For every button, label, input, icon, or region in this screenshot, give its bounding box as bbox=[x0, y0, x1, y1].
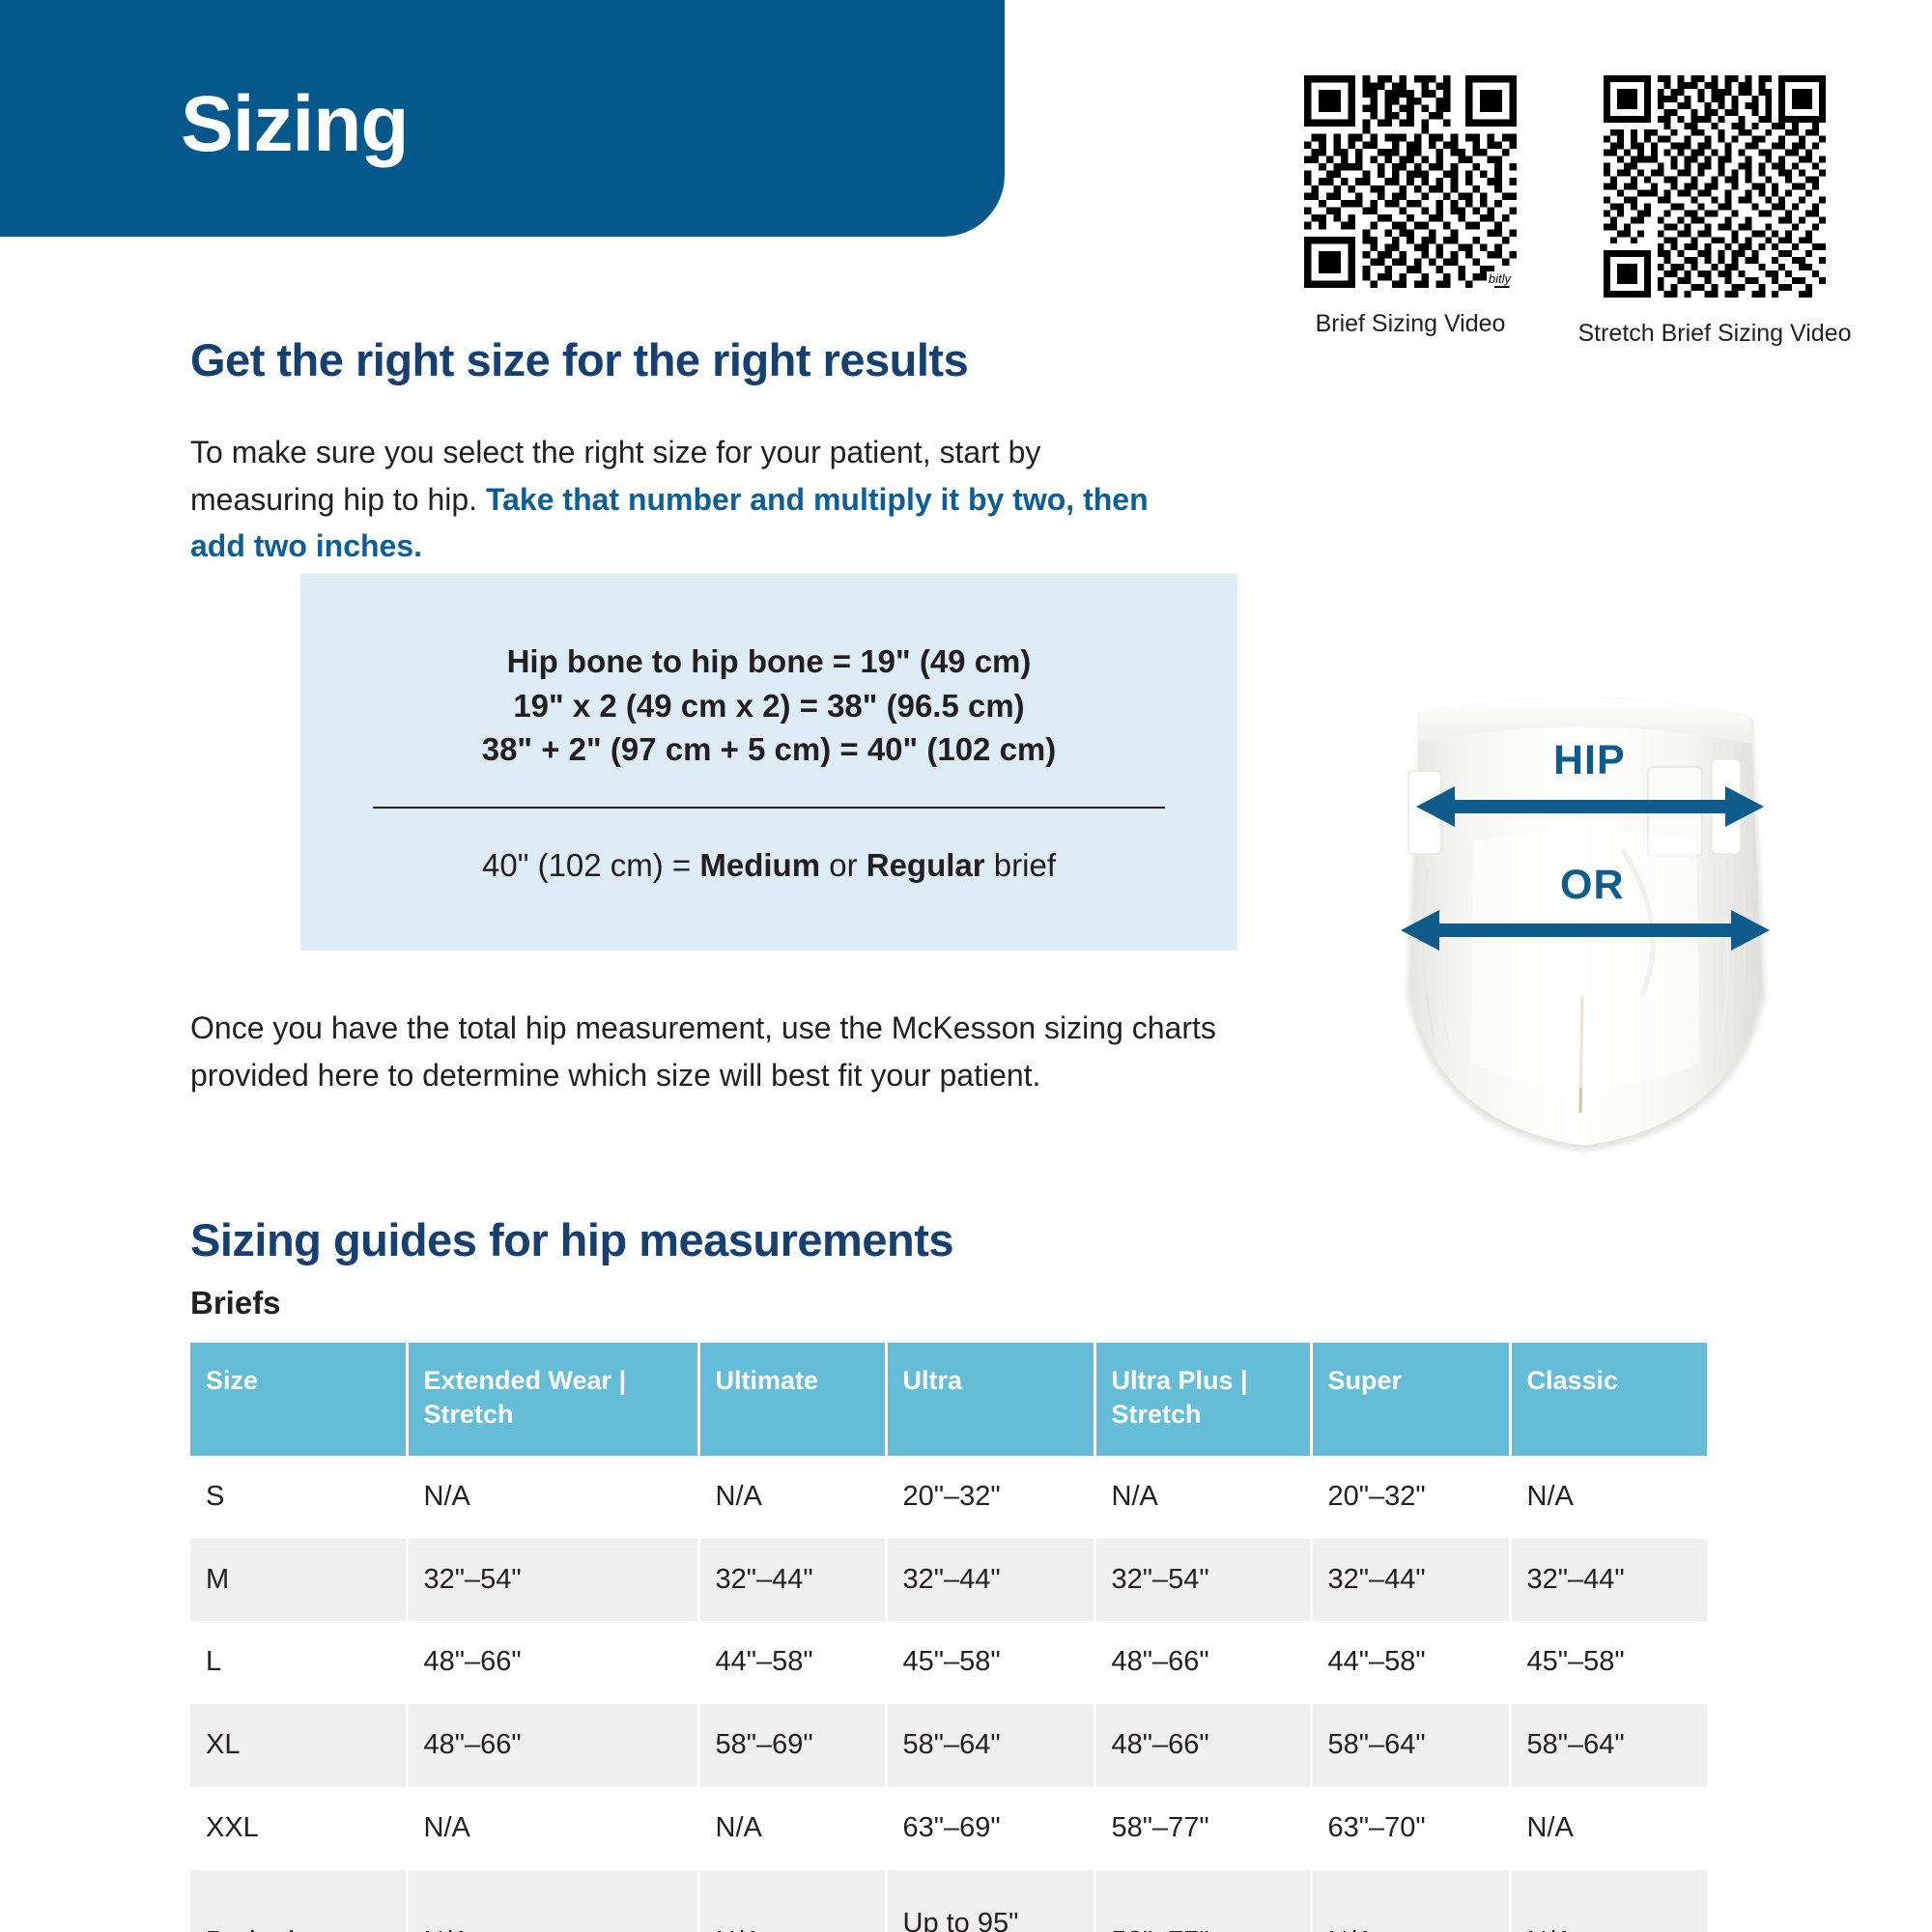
qr-code-icon[interactable] bbox=[1604, 75, 1826, 298]
cell-ultra: 58"–64" bbox=[886, 1704, 1094, 1787]
table-caption-briefs: Briefs bbox=[190, 1285, 1707, 1321]
cell-ultra-plus: 48"–66" bbox=[1094, 1704, 1311, 1787]
cell-extended-wear: N/A bbox=[407, 1787, 698, 1870]
table-row: XL 48"–66" 58"–69" 58"–64" 48"–66" 58"–6… bbox=[190, 1704, 1707, 1787]
cell-classic: 32"–44" bbox=[1510, 1539, 1707, 1622]
qr-wrap bbox=[1604, 75, 1826, 298]
cell-ultimate: 32"–44" bbox=[698, 1539, 886, 1622]
cell-super: 44"–58" bbox=[1311, 1621, 1510, 1704]
cell-ultra-plus: 48"–66" bbox=[1094, 1621, 1311, 1704]
column-header-extended-wear: Extended Wear | Stretch bbox=[407, 1343, 698, 1456]
briefs-sizing-table: Size Extended Wear | Stretch Ultimate Ul… bbox=[190, 1343, 1707, 1932]
cell-super: 32"–44" bbox=[1311, 1539, 1510, 1622]
brief-product-image: HIP OR bbox=[1381, 676, 1787, 1159]
calc-line-1: Hip bone to hip bone = 19" (49 cm) bbox=[300, 639, 1237, 684]
cell-ultra-plus: 58"–77" bbox=[1094, 1787, 1311, 1870]
calc-result-joiner: or bbox=[820, 847, 867, 883]
cell-size: L bbox=[190, 1621, 407, 1704]
calc-result-prefix: 40" (102 cm) = bbox=[482, 847, 699, 883]
table-head: Size Extended Wear | Stretch Ultimate Ul… bbox=[190, 1343, 1707, 1456]
cell-ultra: 20"–32" bbox=[886, 1456, 1094, 1539]
cell-classic: N/A bbox=[1510, 1456, 1707, 1539]
column-header-size: Size bbox=[190, 1343, 407, 1456]
qr-item-stretch-brief-sizing-video[interactable]: Stretch Brief Sizing Video bbox=[1570, 75, 1860, 349]
qr-label-brief-sizing-video: Brief Sizing Video bbox=[1285, 309, 1536, 339]
briefs-sizing-table-group: Briefs Size Extended Wear | Stretch Ulti… bbox=[190, 1285, 1707, 1932]
cell-ultra: 45"–58" bbox=[886, 1621, 1094, 1704]
cell-ultra-plus: N/A bbox=[1094, 1456, 1311, 1539]
cell-ultra-plus: 32"–54" bbox=[1094, 1539, 1311, 1622]
table-row: S N/A N/A 20"–32" N/A 20"–32" N/A bbox=[190, 1456, 1707, 1539]
bitly-watermark: bitly bbox=[1487, 271, 1513, 286]
cell-ultimate: 58"–69" bbox=[698, 1704, 886, 1787]
cell-extended-wear: 48"–66" bbox=[407, 1704, 698, 1787]
table-row: M 32"–54" 32"–44" 32"–44" 32"–54" 32"–44… bbox=[190, 1539, 1707, 1622]
cell-extended-wear: 48"–66" bbox=[407, 1621, 698, 1704]
cell-size: S bbox=[190, 1456, 407, 1539]
cell-ultra-plus: 58"–77" bbox=[1094, 1870, 1311, 1932]
secondary-paragraph: Once you have the total hip measurement,… bbox=[190, 1005, 1292, 1098]
qr-item-brief-sizing-video[interactable]: bitly Brief Sizing Video bbox=[1285, 75, 1536, 339]
cell-classic: 45"–58" bbox=[1510, 1621, 1707, 1704]
cell-ultimate: N/A bbox=[698, 1870, 886, 1932]
cell-super: N/A bbox=[1311, 1870, 1510, 1932]
qr-label-stretch-brief-sizing-video: Stretch Brief Sizing Video bbox=[1570, 319, 1860, 349]
intro-paragraph: To make sure you select the right size f… bbox=[190, 429, 1156, 570]
cell-super: 63"–70" bbox=[1311, 1787, 1510, 1870]
cell-ultimate: N/A bbox=[698, 1787, 886, 1870]
table-row: Bariatric N/A N/A Up to 95" Waist 58"–77… bbox=[190, 1870, 1707, 1932]
cell-classic: 58"–64" bbox=[1510, 1704, 1707, 1787]
calc-result-suffix: brief bbox=[985, 847, 1056, 883]
cell-size: Bariatric bbox=[190, 1870, 407, 1932]
column-header-classic: Classic bbox=[1510, 1343, 1707, 1456]
calc-result: 40" (102 cm) = Medium or Regular brief bbox=[300, 847, 1237, 884]
calculation-box: Hip bone to hip bone = 19" (49 cm) 19" x… bbox=[300, 574, 1237, 951]
cell-extended-wear: 32"–54" bbox=[407, 1539, 698, 1622]
cell-super: 20"–32" bbox=[1311, 1456, 1510, 1539]
calc-result-size-regular: Regular bbox=[867, 847, 985, 883]
cell-size: M bbox=[190, 1539, 407, 1622]
column-header-ultra-plus: Ultra Plus | Stretch bbox=[1094, 1343, 1311, 1456]
cell-ultimate: 44"–58" bbox=[698, 1621, 886, 1704]
section-heading-right-size: Get the right size for the right results bbox=[190, 333, 968, 386]
qr-wrap: bitly bbox=[1304, 75, 1517, 288]
calc-divider bbox=[373, 807, 1165, 809]
cell-size: XL bbox=[190, 1704, 407, 1787]
page-title: Sizing bbox=[181, 85, 408, 164]
column-header-ultimate: Ultimate bbox=[698, 1343, 886, 1456]
calc-result-size-medium: Medium bbox=[699, 847, 820, 883]
cell-extended-wear: N/A bbox=[407, 1456, 698, 1539]
hip-measurement-label: HIP bbox=[1553, 737, 1626, 784]
cell-classic: N/A bbox=[1510, 1787, 1707, 1870]
cell-ultra: 32"–44" bbox=[886, 1539, 1094, 1622]
section-heading-sizing-guides: Sizing guides for hip measurements bbox=[190, 1213, 953, 1266]
cell-extended-wear: N/A bbox=[407, 1870, 698, 1932]
calc-line-2: 19" x 2 (49 cm x 2) = 38" (96.5 cm) bbox=[300, 684, 1237, 728]
cell-super: 58"–64" bbox=[1311, 1704, 1510, 1787]
cell-size: XXL bbox=[190, 1787, 407, 1870]
table-row: XXL N/A N/A 63"–69" 58"–77" 63"–70" N/A bbox=[190, 1787, 1707, 1870]
sizing-document-page: Sizing bbox=[0, 0, 1932, 1932]
calc-line-3: 38" + 2" (97 cm + 5 cm) = 40" (102 cm) bbox=[300, 727, 1237, 772]
table-header-row: Size Extended Wear | Stretch Ultimate Ul… bbox=[190, 1343, 1707, 1456]
cell-classic: N/A bbox=[1510, 1870, 1707, 1932]
or-measurement-label: OR bbox=[1560, 862, 1625, 909]
qr-code-icon[interactable] bbox=[1304, 75, 1517, 288]
cell-ultra: 63"–69" bbox=[886, 1787, 1094, 1870]
header-banner bbox=[0, 0, 1005, 237]
table-row: L 48"–66" 44"–58" 45"–58" 48"–66" 44"–58… bbox=[190, 1621, 1707, 1704]
column-header-ultra: Ultra bbox=[886, 1343, 1094, 1456]
cell-ultra: Up to 95" Waist bbox=[886, 1870, 1094, 1932]
table-body: S N/A N/A 20"–32" N/A 20"–32" N/A M 32"–… bbox=[190, 1456, 1707, 1932]
column-header-super: Super bbox=[1311, 1343, 1510, 1456]
hip-measurement-arrow-icon bbox=[1416, 784, 1764, 829]
or-measurement-arrow-icon bbox=[1401, 908, 1770, 952]
cell-ultimate: N/A bbox=[698, 1456, 886, 1539]
